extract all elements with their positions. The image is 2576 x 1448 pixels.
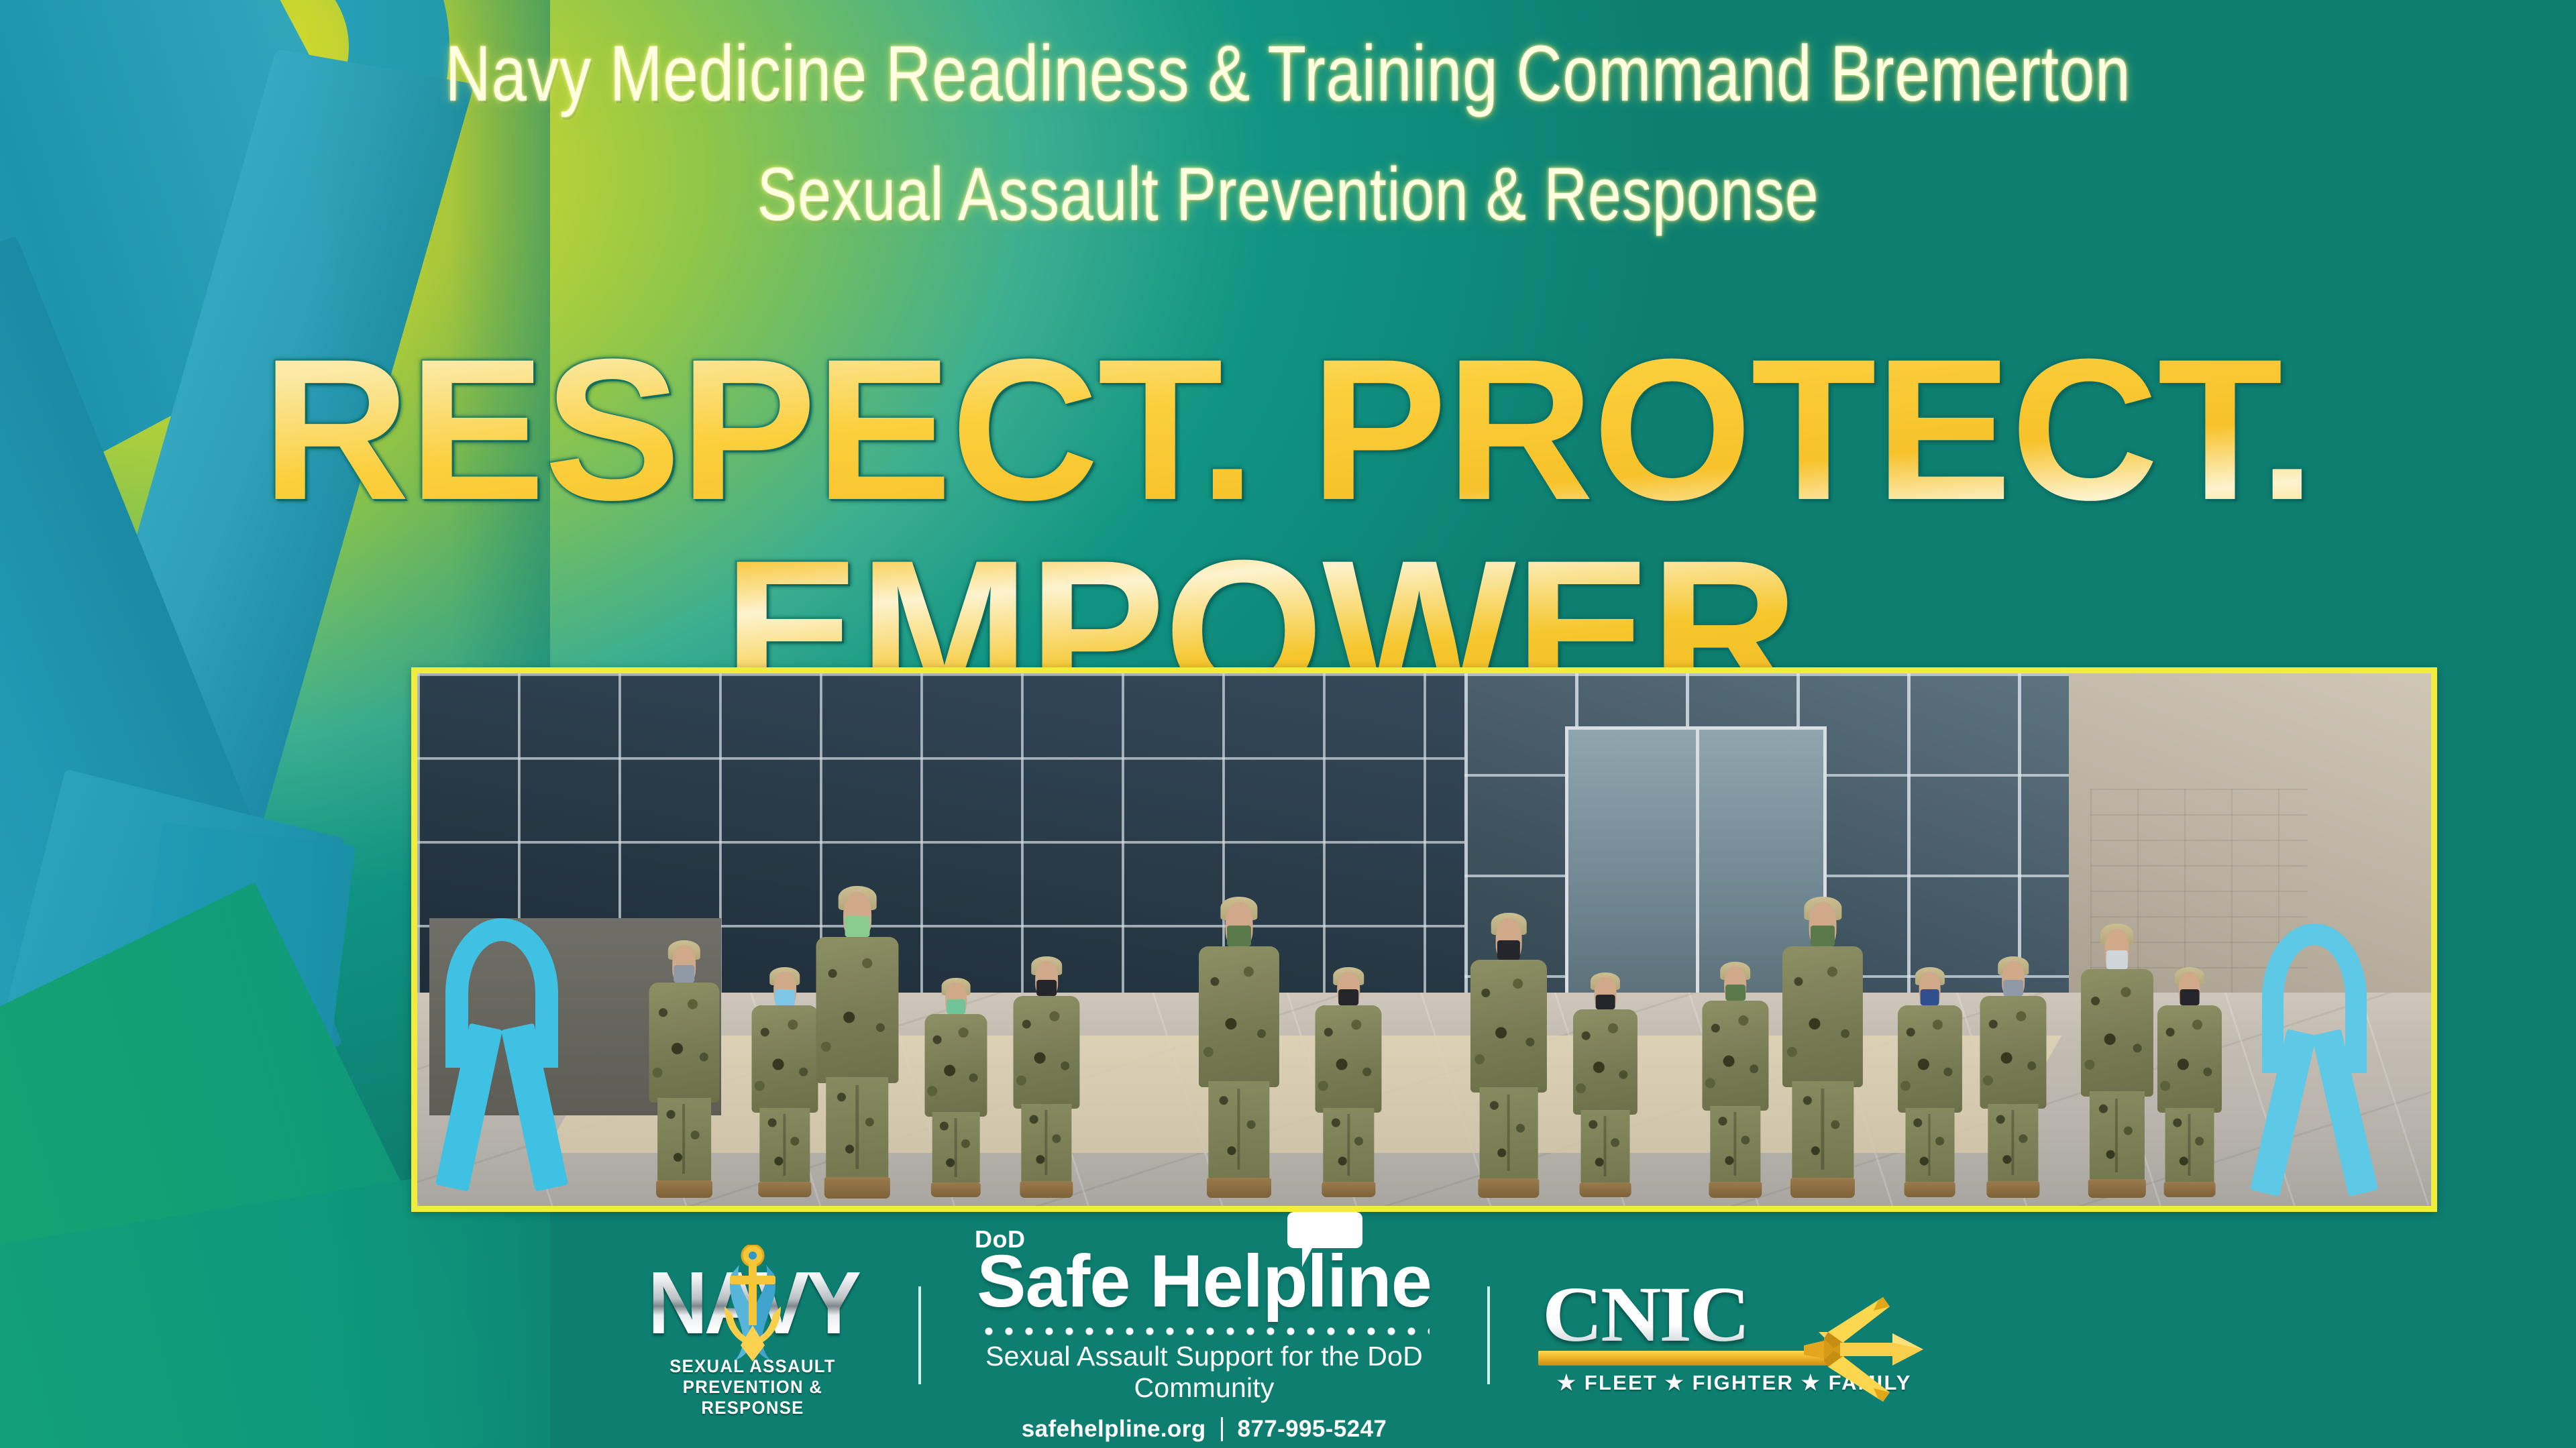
face-mask bbox=[2003, 980, 2023, 996]
uniform-trousers bbox=[826, 1077, 889, 1177]
uniform-top bbox=[1782, 946, 1863, 1087]
boots bbox=[1790, 1178, 1855, 1199]
uniform-top bbox=[1980, 996, 2047, 1109]
uniform-trousers bbox=[1021, 1104, 1071, 1181]
safe-helpline-website[interactable]: safehelpline.org bbox=[1022, 1416, 1206, 1443]
uniform-trousers bbox=[1710, 1106, 1760, 1182]
safe-helpline-logo: DoD Safe Helpline Sexual Assault Support… bbox=[969, 1228, 1439, 1443]
boots bbox=[824, 1177, 890, 1199]
uniform-trousers bbox=[1480, 1087, 1538, 1178]
navy-sapr-subtitle: SEXUAL ASSAULT PREVENTION & RESPONSE bbox=[641, 1356, 865, 1418]
uniform-trousers bbox=[1324, 1108, 1374, 1182]
face-mask bbox=[845, 916, 869, 938]
safe-helpline-title: Safe Helpline bbox=[969, 1244, 1439, 1319]
logo-divider bbox=[1487, 1286, 1490, 1384]
sailor-figure bbox=[1014, 961, 1080, 1195]
dod-eyebrow: DoD bbox=[975, 1225, 1026, 1254]
trident-icon bbox=[1804, 1296, 1945, 1403]
boots bbox=[758, 1182, 811, 1197]
boots bbox=[1580, 1182, 1631, 1198]
speech-bubble-icon bbox=[1287, 1212, 1362, 1248]
uniform-top bbox=[816, 937, 898, 1082]
uniform-top bbox=[1470, 960, 1547, 1093]
uniform-trousers bbox=[1905, 1108, 1954, 1182]
sapr-awareness-poster: Navy Medicine Readiness & Training Comma… bbox=[0, 0, 2576, 1448]
face-mask bbox=[1339, 989, 1359, 1005]
face-mask bbox=[947, 999, 965, 1014]
uniform-trousers bbox=[1988, 1104, 2038, 1181]
sailor-figure bbox=[1897, 972, 1962, 1195]
boots bbox=[1207, 1178, 1271, 1199]
sailor-figure bbox=[751, 972, 818, 1195]
signed-teal-ribbon-left bbox=[445, 918, 558, 1184]
uniform-top bbox=[2081, 969, 2153, 1097]
boots bbox=[1904, 1182, 1955, 1197]
sailor-figure bbox=[649, 945, 719, 1195]
boots bbox=[1709, 1182, 1762, 1198]
trident-shaft bbox=[1538, 1351, 1841, 1366]
face-mask bbox=[1497, 940, 1520, 960]
face-mask bbox=[1811, 926, 1835, 946]
headline-container: RESPECT. PROTECT. EMPOWER. bbox=[0, 329, 2576, 550]
uniform-trousers bbox=[1581, 1110, 1630, 1182]
sailor-figure bbox=[816, 892, 898, 1196]
boots bbox=[2088, 1179, 2145, 1198]
cnic-logo: CNIC ★ FLEET ★ FIGHTER ★ FAMILY bbox=[1538, 1272, 1941, 1399]
face-mask bbox=[1036, 980, 1057, 996]
boots bbox=[931, 1182, 981, 1197]
sailor-figure bbox=[1782, 902, 1863, 1195]
boots bbox=[1986, 1181, 2039, 1197]
boots bbox=[1478, 1178, 1539, 1198]
uniform-top bbox=[1702, 1001, 1768, 1111]
group-photo bbox=[417, 673, 2431, 1206]
boots bbox=[1322, 1182, 1375, 1197]
uniform-trousers bbox=[2165, 1108, 2214, 1182]
uniform-top bbox=[924, 1014, 987, 1116]
face-mask bbox=[775, 989, 795, 1005]
dotted-rule bbox=[979, 1326, 1430, 1337]
cnic-wordmark: CNIC bbox=[1542, 1269, 1748, 1360]
face-mask bbox=[674, 965, 695, 983]
uniform-trousers bbox=[2090, 1091, 2145, 1179]
sailor-figure bbox=[925, 983, 987, 1196]
contact-separator bbox=[1221, 1417, 1223, 1441]
anchor-ribbon-icon bbox=[712, 1245, 793, 1363]
sailor-figure bbox=[1573, 977, 1638, 1196]
uniform-top bbox=[1897, 1005, 1962, 1113]
uniform-top bbox=[1014, 996, 1080, 1109]
poster-headings: Navy Medicine Readiness & Training Comma… bbox=[0, 32, 2576, 235]
face-mask bbox=[2106, 950, 2127, 969]
sailor-figure bbox=[2157, 972, 2222, 1195]
sailor-figure bbox=[1702, 966, 1768, 1195]
boots bbox=[656, 1180, 712, 1198]
uniform-trousers bbox=[759, 1108, 810, 1182]
boots bbox=[2163, 1182, 2215, 1197]
program-title: Sexual Assault Prevention & Response bbox=[258, 155, 2318, 235]
uniform-top bbox=[1199, 946, 1279, 1087]
sailor-figure bbox=[1316, 972, 1382, 1195]
uniform-top bbox=[1316, 1005, 1382, 1113]
logo-divider bbox=[918, 1286, 921, 1384]
safe-helpline-phone[interactable]: 877-995-5247 bbox=[1238, 1416, 1387, 1443]
uniform-trousers bbox=[932, 1112, 980, 1182]
organization-title: Navy Medicine Readiness & Training Comma… bbox=[258, 32, 2318, 116]
uniform-top bbox=[751, 1005, 818, 1113]
face-mask bbox=[1725, 985, 1746, 1001]
group-photo-frame bbox=[411, 667, 2437, 1212]
uniform-trousers bbox=[1208, 1081, 1269, 1178]
face-mask bbox=[1596, 995, 1615, 1010]
face-mask bbox=[1227, 926, 1251, 946]
uniform-top bbox=[2157, 1005, 2222, 1113]
uniform-top bbox=[1573, 1009, 1638, 1114]
face-mask bbox=[1920, 989, 1939, 1005]
boots bbox=[1020, 1181, 1073, 1197]
uniform-trousers bbox=[657, 1098, 711, 1180]
sailor-figure bbox=[1199, 902, 1279, 1195]
uniform-top bbox=[649, 983, 719, 1103]
navy-sapr-logo: NAVY SEXUAL ASSAULT PREVENTION & RESPONS… bbox=[635, 1253, 870, 1418]
safe-helpline-contact: safehelpline.org 877-995-5247 bbox=[969, 1416, 1439, 1443]
teal-ribbon-right bbox=[2262, 924, 2367, 1190]
safe-helpline-tagline: Sexual Assault Support for the DoD Commu… bbox=[969, 1341, 1439, 1404]
face-mask bbox=[2180, 989, 2199, 1005]
uniform-trousers bbox=[1792, 1081, 1854, 1178]
sailor-figure bbox=[1980, 961, 2047, 1195]
partner-logos-row: NAVY SEXUAL ASSAULT PREVENTION & RESPONS… bbox=[0, 1235, 2576, 1436]
sailor-figure bbox=[1470, 918, 1547, 1195]
sailor-figure bbox=[2081, 929, 2153, 1195]
